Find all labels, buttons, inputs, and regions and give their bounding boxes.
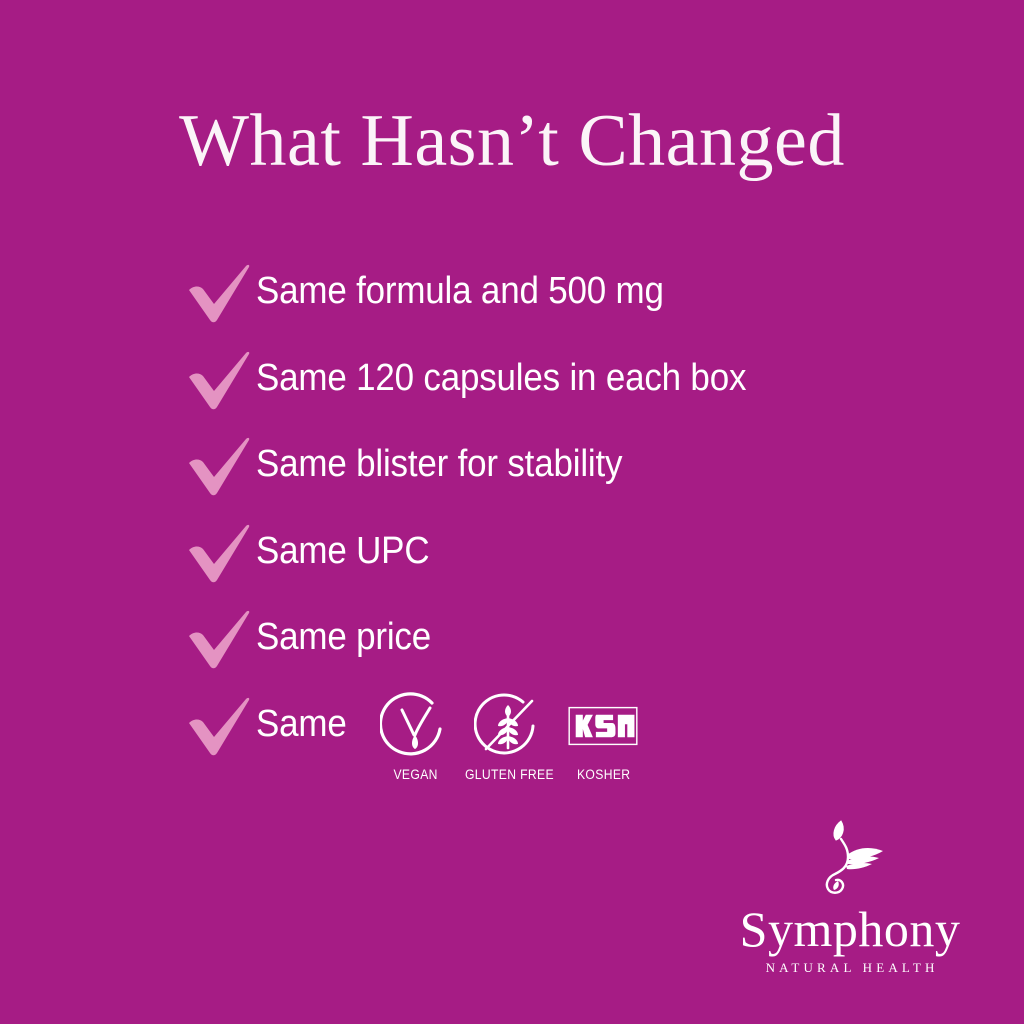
vegan-icon <box>380 691 450 761</box>
symphony-leaf-mark-icon <box>807 815 893 901</box>
check-icon <box>186 264 256 330</box>
brand-name: Symphony <box>740 903 961 956</box>
check-icon <box>186 610 256 676</box>
check-icon <box>186 697 256 763</box>
feature-checklist: Same formula and 500 mg Same 120 capsule… <box>186 258 946 777</box>
check-icon <box>186 351 256 417</box>
gluten-free-icon <box>474 691 544 761</box>
list-item-label: Same price <box>256 618 431 656</box>
list-item: Same price <box>186 604 946 691</box>
list-item-label: Same blister for stability <box>256 445 622 483</box>
page-title: What Hasn’t Changed <box>0 104 1024 178</box>
check-icon <box>186 524 256 590</box>
badge-gluten-free: GLUTEN FREE <box>462 691 556 782</box>
list-item: Same formula and 500 mg <box>186 258 946 345</box>
certification-badges: VEGAN <box>368 691 650 782</box>
badge-vegan: VEGAN <box>368 691 462 782</box>
list-item: Same 120 capsules in each box <box>186 345 946 432</box>
brand-tagline: NATURAL HEALTH <box>761 960 938 976</box>
badge-caption: KOSHER <box>577 767 630 782</box>
list-item: Same UPC <box>186 518 946 605</box>
list-item: Same blister for stability <box>186 431 946 518</box>
badge-caption: VEGAN <box>393 767 437 782</box>
list-item-label: Same formula and 500 mg <box>256 272 664 310</box>
kosher-ksa-icon <box>568 691 638 761</box>
brand-logo: Symphony NATURAL HEALTH <box>734 815 966 977</box>
check-icon <box>186 437 256 503</box>
badge-kosher: KOSHER <box>556 691 650 782</box>
badge-caption: GLUTEN FREE <box>465 767 554 782</box>
list-item-certifications: Same VEGAN <box>186 691 946 778</box>
list-item-label: Same 120 capsules in each box <box>256 359 746 397</box>
promo-poster: What Hasn’t Changed Same formula and 500… <box>0 0 1024 1024</box>
list-item-label: Same <box>256 705 347 743</box>
list-item-label: Same UPC <box>256 532 429 570</box>
